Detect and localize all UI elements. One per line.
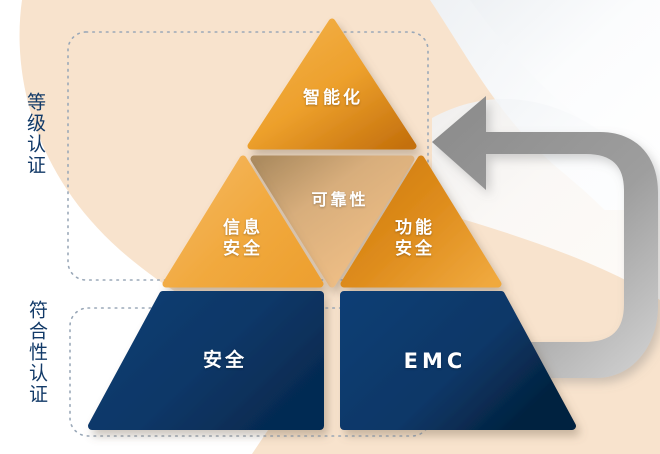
- tile-safety[interactable]: [92, 295, 320, 426]
- diagram-canvas: 等级认证 符合性认证 智能化 可靠性 信息 安全 功能 安全 安全 EMC: [0, 0, 660, 454]
- tile-emc[interactable]: [344, 295, 572, 426]
- pyramid-graphic: [0, 0, 660, 454]
- tile-intelligent[interactable]: [251, 22, 413, 146]
